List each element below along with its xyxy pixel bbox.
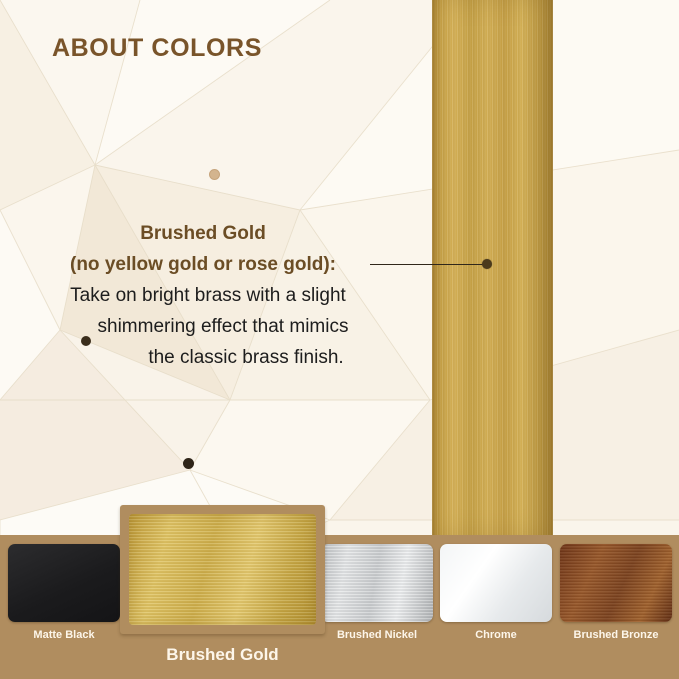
swatch-bar: Matte Black Brushed Nickel Chrome Brushe… [0,535,679,679]
swatch-label-brushed-nickel: Brushed Nickel [321,629,433,641]
page-title: ABOUT COLORS [52,34,262,63]
swatch-tile-brushed-bronze[interactable] [560,544,672,622]
callout-line-2: (no yellow gold or rose gold): [34,249,372,280]
featured-swatch-brushed-gold[interactable] [120,505,325,634]
featured-swatch-label: Brushed Gold [120,645,325,665]
leader-target-dot [482,259,492,269]
product-color-infographic: ABOUT COLORS Brushed Gold (no yellow gol… [0,0,679,679]
swatch-tile-matte-black[interactable] [8,544,120,622]
callout-text-block: Brushed Gold (no yellow gold or rose gol… [34,218,372,373]
swatch-label-brushed-bronze: Brushed Bronze [560,629,672,641]
dark-marker-dot-low [183,458,194,469]
swatch-tile-chrome[interactable] [440,544,552,622]
swatch-tile-brushed-nickel[interactable] [321,544,433,622]
swatch-chrome[interactable]: Chrome [440,544,552,641]
callout-line-3: Take on bright brass with a slight [34,280,372,311]
dark-marker-dot-mid [81,336,91,346]
swatch-matte-black[interactable]: Matte Black [8,544,120,641]
brushed-gold-vertical-bar [432,0,553,536]
swatch-label-matte-black: Matte Black [8,629,120,641]
swatch-brushed-bronze[interactable]: Brushed Bronze [560,544,672,641]
tan-marker-dot [209,169,220,180]
callout-line-5: the classic brass finish. [34,342,372,373]
featured-swatch-tile[interactable] [129,514,316,625]
callout-line-1: Brushed Gold [34,218,372,249]
leader-line [370,264,486,265]
swatch-brushed-nickel[interactable]: Brushed Nickel [321,544,433,641]
swatch-label-chrome: Chrome [440,629,552,641]
